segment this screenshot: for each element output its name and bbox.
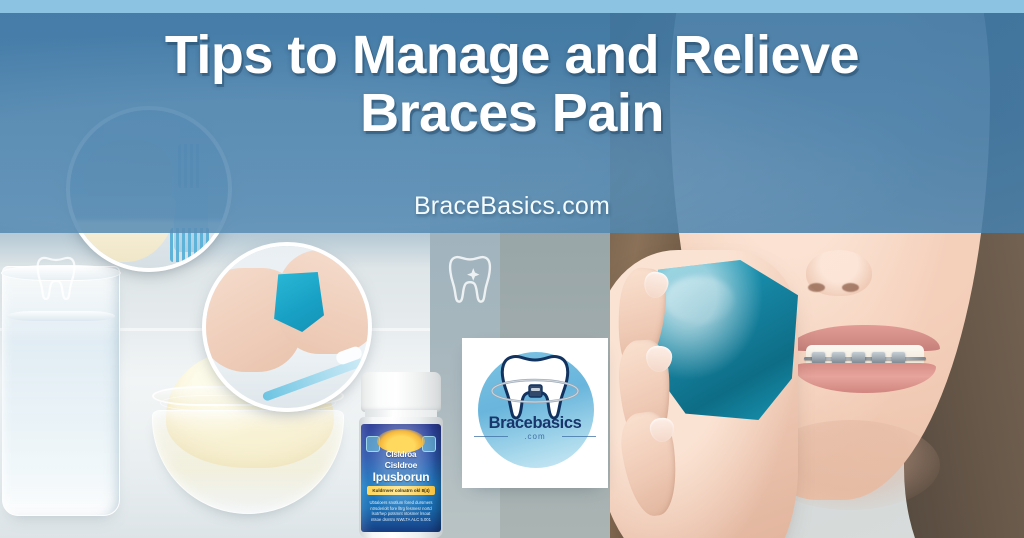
lower-lip xyxy=(794,363,936,393)
pain-reliever-bottle-photo: Clsldroa Cisldroe Ipusborun Kuldrnver co… xyxy=(357,372,445,538)
logo-brand-name: Bracebasics xyxy=(462,414,608,433)
top-accent-strip xyxy=(0,0,1024,13)
page-title: Tips to Manage and Relieve Braces Pain xyxy=(0,26,1024,143)
bottle-fine-print: Ubtaloers snotlum fored dursmers ntrsder… xyxy=(369,500,433,522)
brand-logo-card: Bracebasics .com xyxy=(462,338,608,488)
site-name-subtitle: BraceBasics.com xyxy=(0,192,1024,221)
nostril-left xyxy=(808,283,825,292)
bottle-label-line1: Clsldroa xyxy=(361,451,441,459)
smiling-mouth-with-braces xyxy=(790,325,940,393)
bottle-label-band: Kuldrnver colnatrn okl 8(4) xyxy=(367,486,435,495)
tooth-sparkle-icon xyxy=(448,254,492,311)
nostril-right xyxy=(842,283,859,292)
glass-waterline xyxy=(7,311,115,321)
bottle-label: Clsldroa Cisldroe Ipusborun Kuldrnver co… xyxy=(361,424,441,532)
blog-header-banner: Clsldroa Cisldroe Ipusborun Kuldrnver co… xyxy=(0,0,1024,538)
bottle-cap xyxy=(361,372,441,412)
page-title-line1: Tips to Manage and Relieve xyxy=(165,25,859,85)
inset-orthodontic-wax-photo xyxy=(202,242,372,412)
bottle-band-text: Kuldrnver colnatrn okl 8(4) xyxy=(367,486,435,495)
bottle-label-line2: Cisldroe xyxy=(361,461,441,470)
logo-domain-suffix: .com xyxy=(462,432,608,441)
ice-pack-highlight xyxy=(664,276,734,324)
glass-bowl xyxy=(152,410,344,514)
page-title-line2: Braces Pain xyxy=(0,84,1024,142)
bottle-label-line3: Ipusborun xyxy=(361,471,441,483)
